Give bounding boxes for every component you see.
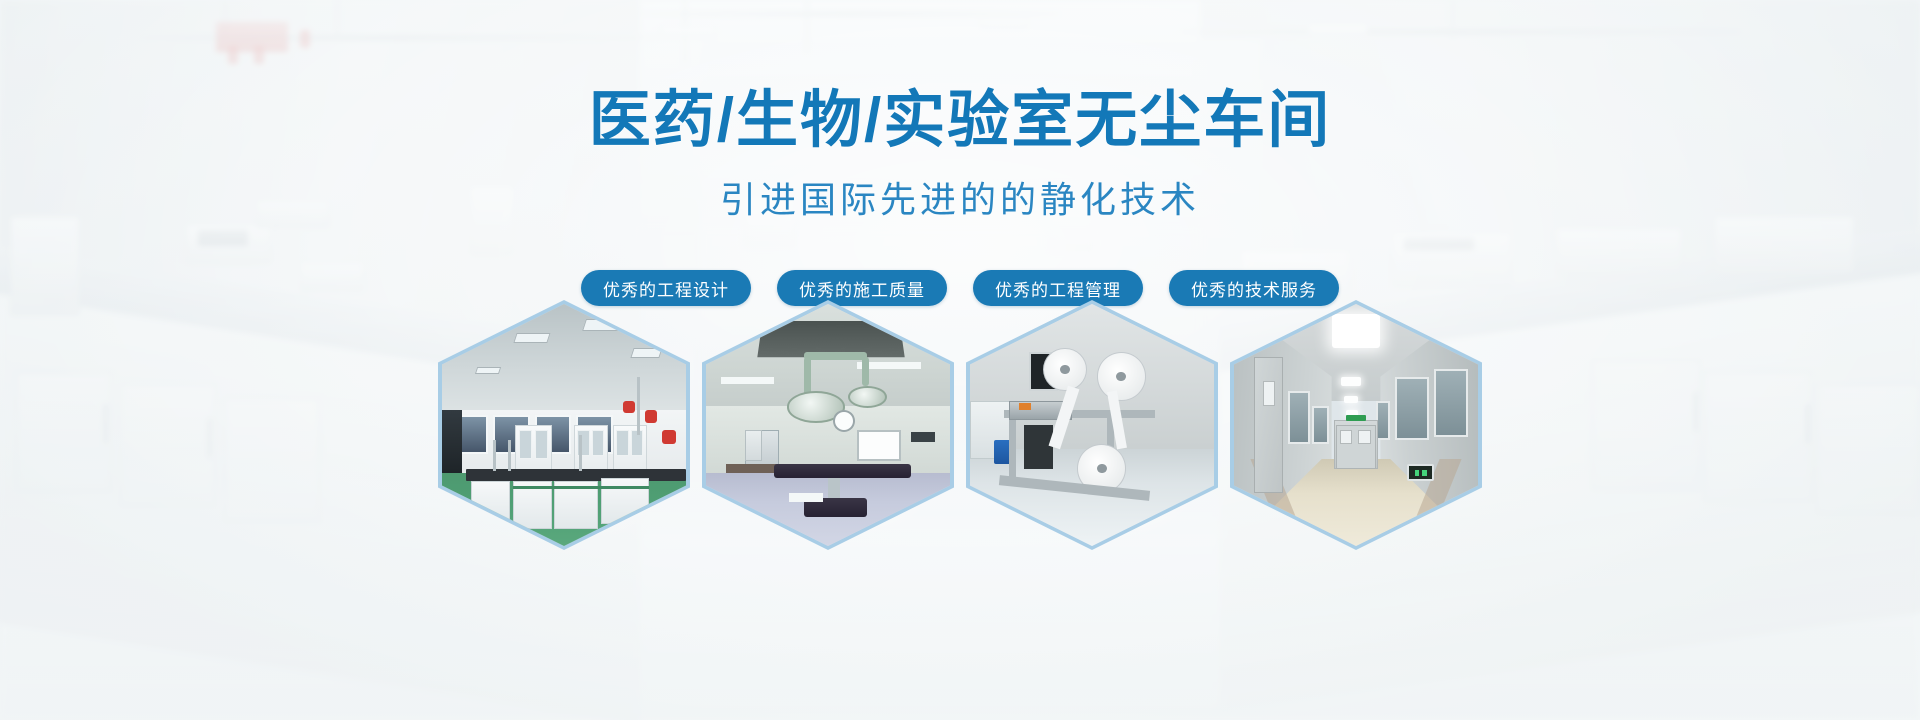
plant-roll-hub — [1060, 365, 1070, 375]
banner-content: 医药/生物/实验室无尘车间 引进国际先进的的静化技术 优秀的工程设计 优秀的施工… — [0, 0, 1920, 720]
lab-ceiling-light — [475, 367, 502, 374]
banner-title: 医药/生物/实验室无尘车间 — [0, 84, 1920, 157]
corridor-ceiling-light — [1344, 396, 1359, 403]
or-display-panel — [857, 430, 901, 461]
hex-image-production-line — [970, 304, 1214, 546]
or-surgical-lamp — [848, 386, 887, 408]
lab-bench-trim — [513, 486, 650, 490]
lab-tap — [508, 440, 511, 471]
corridor-keypad — [1407, 464, 1434, 481]
lab-cabinet-glass — [535, 430, 548, 459]
hex-tile-chemistry-laboratory[interactable] — [438, 300, 690, 550]
hexagon-gallery — [0, 300, 1920, 560]
plant-machine-frame — [1009, 415, 1016, 483]
lab-red-fixture — [645, 410, 657, 422]
lab-stand — [637, 377, 640, 435]
lab-red-fixture — [623, 401, 635, 413]
corridor-window-left — [1288, 391, 1310, 444]
or-switch-panel — [911, 432, 935, 442]
or-door — [745, 430, 762, 461]
lab-ceiling — [442, 304, 686, 420]
scene-operating-room — [706, 304, 950, 546]
lab-cabinet-glass — [616, 430, 628, 457]
hex-tile-production-line[interactable] — [966, 300, 1218, 550]
banner-subtitle: 引进国际先进的的静化技术 — [0, 178, 1920, 221]
or-surgical-arm — [804, 357, 811, 396]
or-ceiling-light — [721, 377, 775, 384]
exit-sign-icon — [1346, 415, 1366, 421]
scene-production-line — [970, 304, 1214, 546]
lab-fume-hood — [442, 410, 462, 473]
or-surgical-arm — [804, 352, 867, 359]
or-equipment-tray — [789, 493, 823, 503]
hex-tile-operating-room[interactable] — [702, 300, 954, 550]
lab-tap — [579, 435, 582, 471]
corridor-window-left — [1312, 406, 1329, 445]
hex-image-cleanroom-corridor — [1234, 304, 1478, 546]
hex-tile-cleanroom-corridor[interactable] — [1230, 300, 1482, 550]
lab-ceiling-light — [514, 333, 551, 343]
corridor-window-right — [1434, 369, 1468, 437]
lab-cabinet-glass — [592, 430, 604, 457]
hero-banner: 医药/生物/实验室无尘车间 引进国际先进的的静化技术 优秀的工程设计 优秀的施工… — [0, 0, 1920, 720]
lab-bench-top — [466, 469, 686, 481]
or-operating-table — [774, 464, 911, 479]
keypad-indicator — [1422, 470, 1427, 476]
plant-machine-indicator — [1019, 403, 1031, 410]
plant-roll-hub — [1097, 464, 1107, 474]
corridor-end-door-window — [1340, 430, 1352, 445]
corridor-skylight — [1332, 314, 1381, 348]
keypad-indicator — [1415, 470, 1420, 476]
scene-chemistry-laboratory — [442, 304, 686, 546]
corridor-door-vision-panel — [1263, 381, 1275, 405]
scene-cleanroom-corridor — [1234, 304, 1478, 546]
corridor-window-right — [1395, 377, 1429, 440]
or-surgical-arm — [862, 357, 869, 386]
or-clock — [833, 410, 855, 432]
corridor-end-door-window — [1358, 430, 1370, 445]
hex-image-operating-room — [706, 304, 950, 546]
corridor-door-left — [1254, 357, 1283, 493]
lab-cabinet-glass — [519, 430, 532, 459]
lab-red-fixture — [662, 430, 677, 445]
hex-image-chemistry-laboratory — [442, 304, 686, 546]
plant-machine-cavity — [1024, 425, 1053, 469]
lab-tap — [493, 440, 496, 471]
corridor-ceiling-light — [1341, 377, 1361, 387]
